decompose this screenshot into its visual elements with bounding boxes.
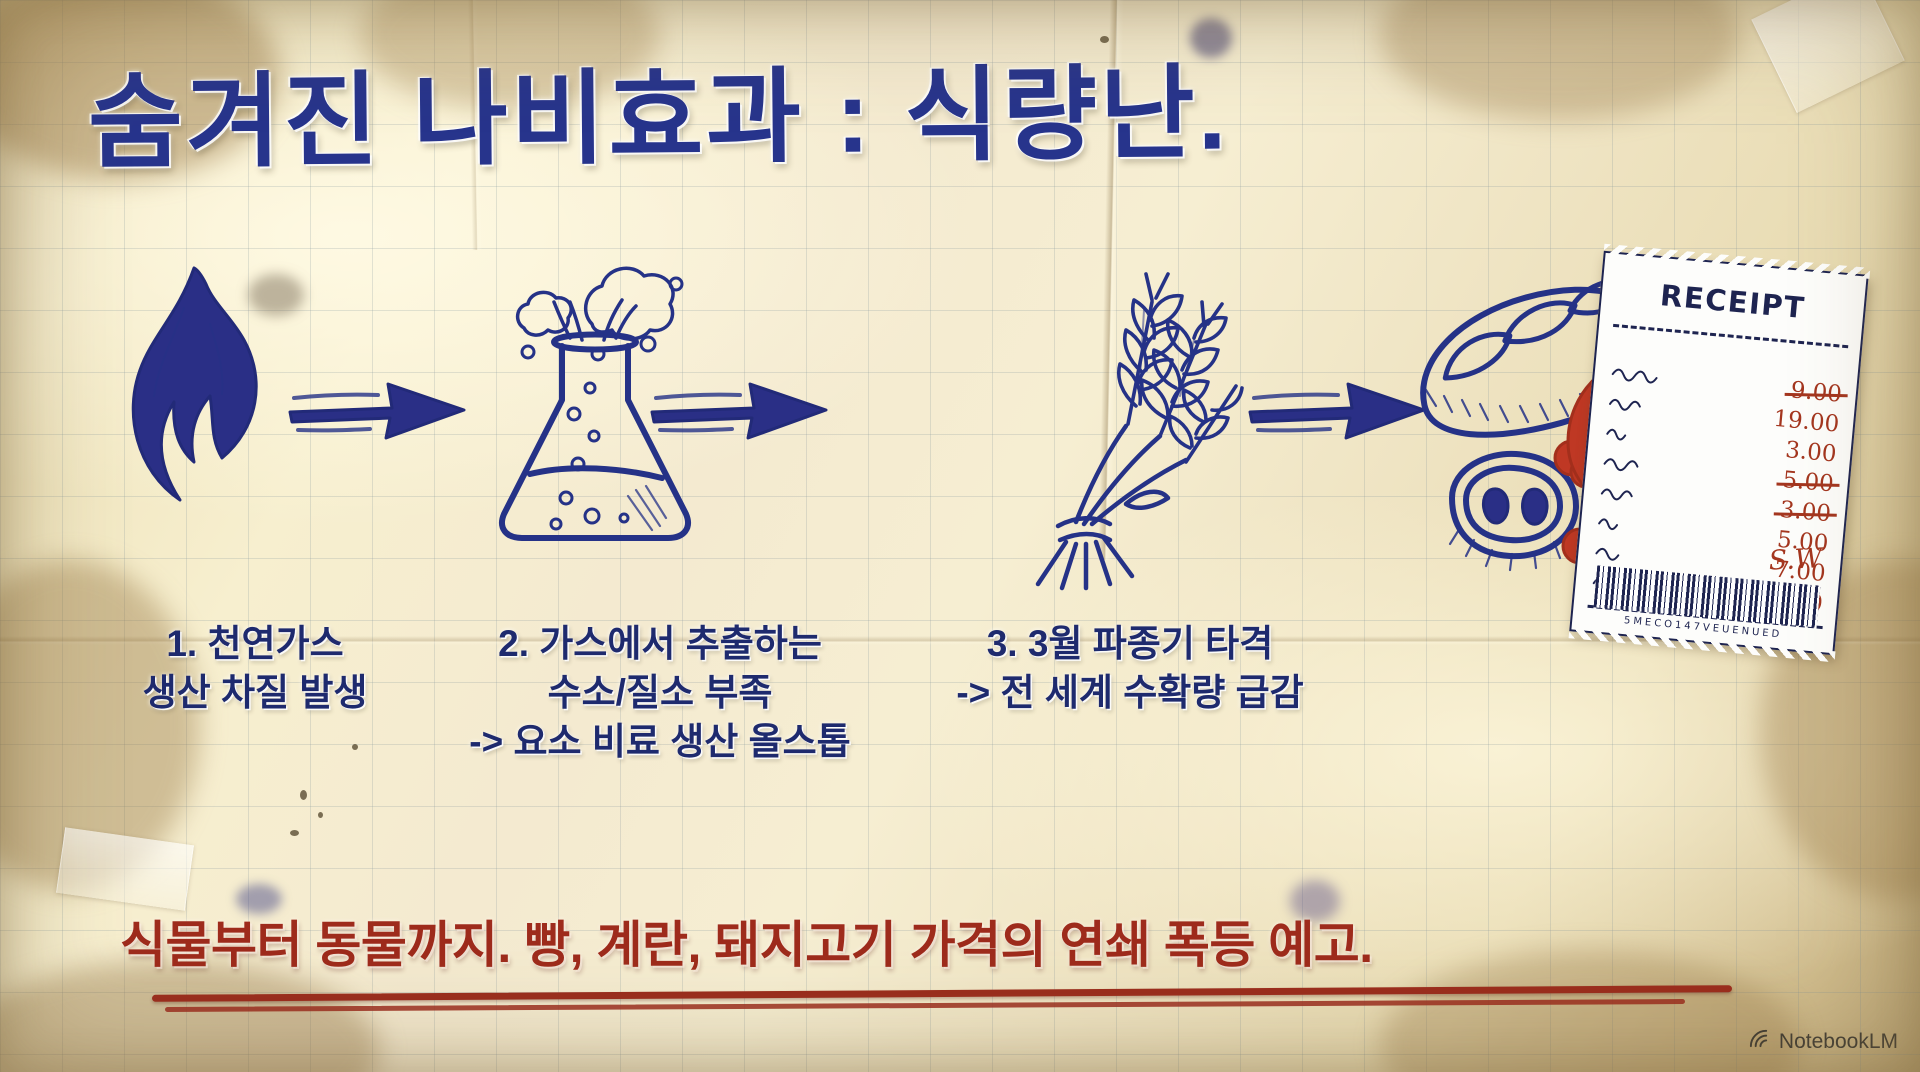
infographic-canvas: 숨겨진 나비효과 : 식량난. [0,0,1920,1072]
paper-edge-shading [0,0,1920,1072]
